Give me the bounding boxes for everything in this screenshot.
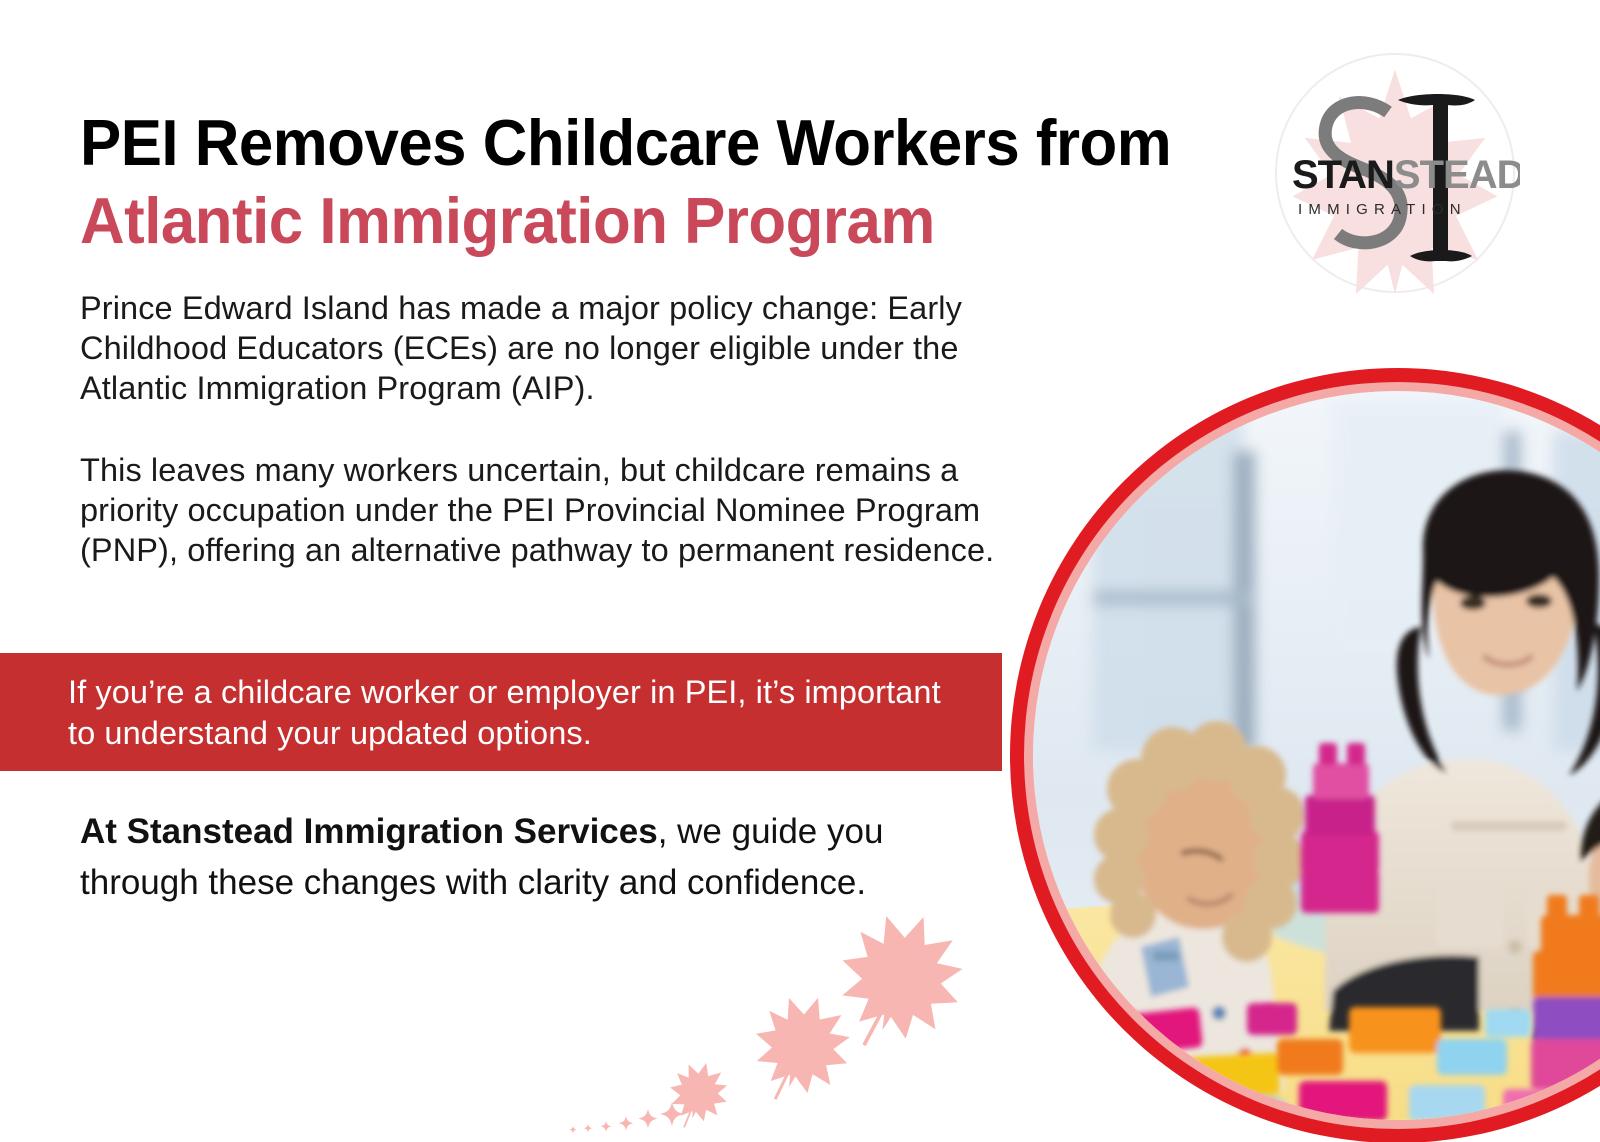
sparkle-icon xyxy=(569,1126,576,1133)
photo-circle xyxy=(1010,368,1600,1142)
logo-wordmark: STANSTEAD xyxy=(1292,153,1520,197)
sparkle-trail xyxy=(569,1102,684,1133)
body-text-block: Prince Edward Island has made a major po… xyxy=(80,288,1000,570)
decorative-maple-leaves xyxy=(560,890,1020,1142)
logo-tagline: IMMIGRATION xyxy=(1298,201,1467,218)
closing-statement: At Stanstead Immigration Services, we gu… xyxy=(80,806,920,908)
childcare-photo xyxy=(1033,391,1600,1120)
maple-leaf-large xyxy=(825,896,981,1051)
callout-banner: If you’re a childcare worker or employer… xyxy=(0,653,1002,771)
promotional-graphic: PEI Removes Childcare Workers from Atlan… xyxy=(0,0,1600,1142)
sparkle-icon xyxy=(619,1116,633,1130)
sparkle-icon xyxy=(638,1109,657,1128)
maple-leaf-small-stem xyxy=(683,1108,692,1127)
sparkle-icon xyxy=(660,1102,684,1126)
sparkle-icon xyxy=(584,1124,592,1132)
callout-banner-text: If you’re a childcare worker or employer… xyxy=(68,672,958,754)
maple-leaf-medium-stem xyxy=(774,1070,790,1099)
headline-block: PEI Removes Childcare Workers from Atlan… xyxy=(80,104,1240,260)
headline-line-1: PEI Removes Childcare Workers from xyxy=(80,104,1182,182)
headline-line-2: Atlantic Immigration Program xyxy=(80,182,1182,260)
maple-leaf-large-stem xyxy=(862,1009,884,1046)
logo-wordmark-stan: STAN xyxy=(1292,153,1394,197)
maple-leaf-medium xyxy=(744,983,864,1102)
closing-bold-lead: At Stanstead Immigration Services xyxy=(80,812,658,851)
maple-leaf-small xyxy=(664,1056,734,1126)
logo-wordmark-stead: STEAD xyxy=(1394,153,1520,197)
body-paragraph-2: This leaves many workers uncertain, but … xyxy=(80,450,1000,570)
body-paragraph-1: Prince Edward Island has made a major po… xyxy=(80,288,1000,408)
sparkle-icon xyxy=(601,1121,612,1132)
stanstead-immigration-logo: STANSTEAD IMMIGRATION xyxy=(1270,48,1520,298)
